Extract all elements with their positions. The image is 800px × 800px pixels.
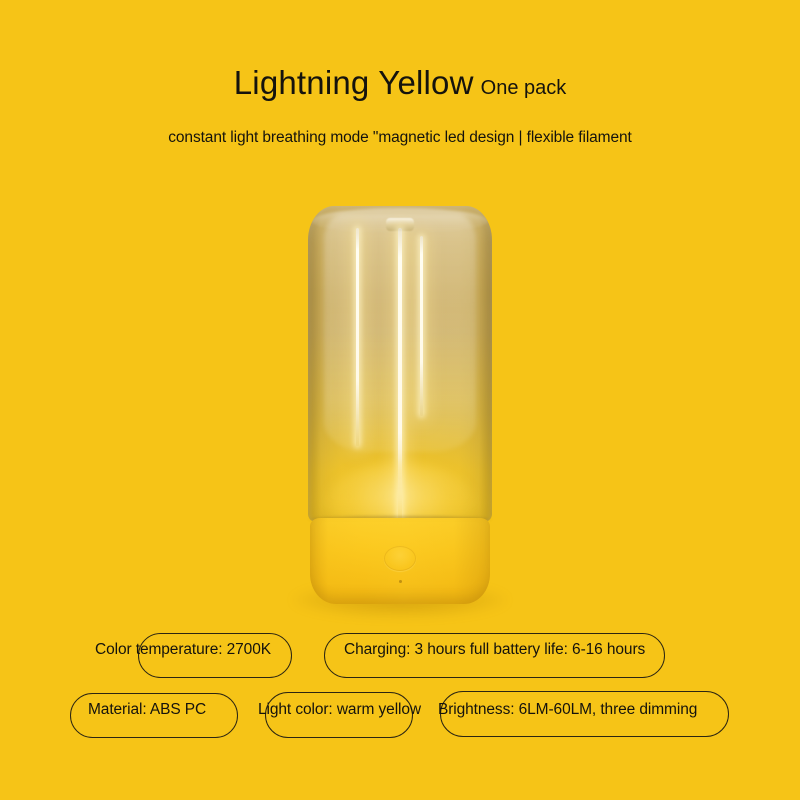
- pack-quantity-label: One pack: [481, 77, 567, 99]
- product-image: [308, 206, 492, 608]
- spec-label-brightness: Brightness: 6LM-60LM, three dimming: [438, 701, 697, 719]
- spec-label-material: Material: ABS PC: [88, 701, 206, 719]
- spec-label-light-color: Light color: warm yellow: [258, 701, 421, 719]
- page-title: Lightning YellowOne pack: [0, 64, 800, 102]
- spec-label-color-temperature: Color temperature: 2700K: [95, 641, 271, 659]
- charge-indicator-icon: [399, 580, 402, 583]
- spec-label-charging: Charging: 3 hours full battery life: 6-1…: [344, 641, 645, 659]
- product-card: Lightning YellowOne pack constant light …: [0, 0, 800, 800]
- power-button-icon: [384, 546, 416, 571]
- lamp-glass-shade: [308, 206, 492, 522]
- led-filament-left-icon: [356, 228, 359, 446]
- glass-bottom-glow: [325, 462, 475, 522]
- lamp-base: [310, 518, 490, 604]
- product-subtitle: constant light breathing mode "magnetic …: [0, 129, 800, 147]
- led-filament-right-icon: [420, 236, 423, 416]
- product-title: Lightning Yellow: [234, 64, 474, 101]
